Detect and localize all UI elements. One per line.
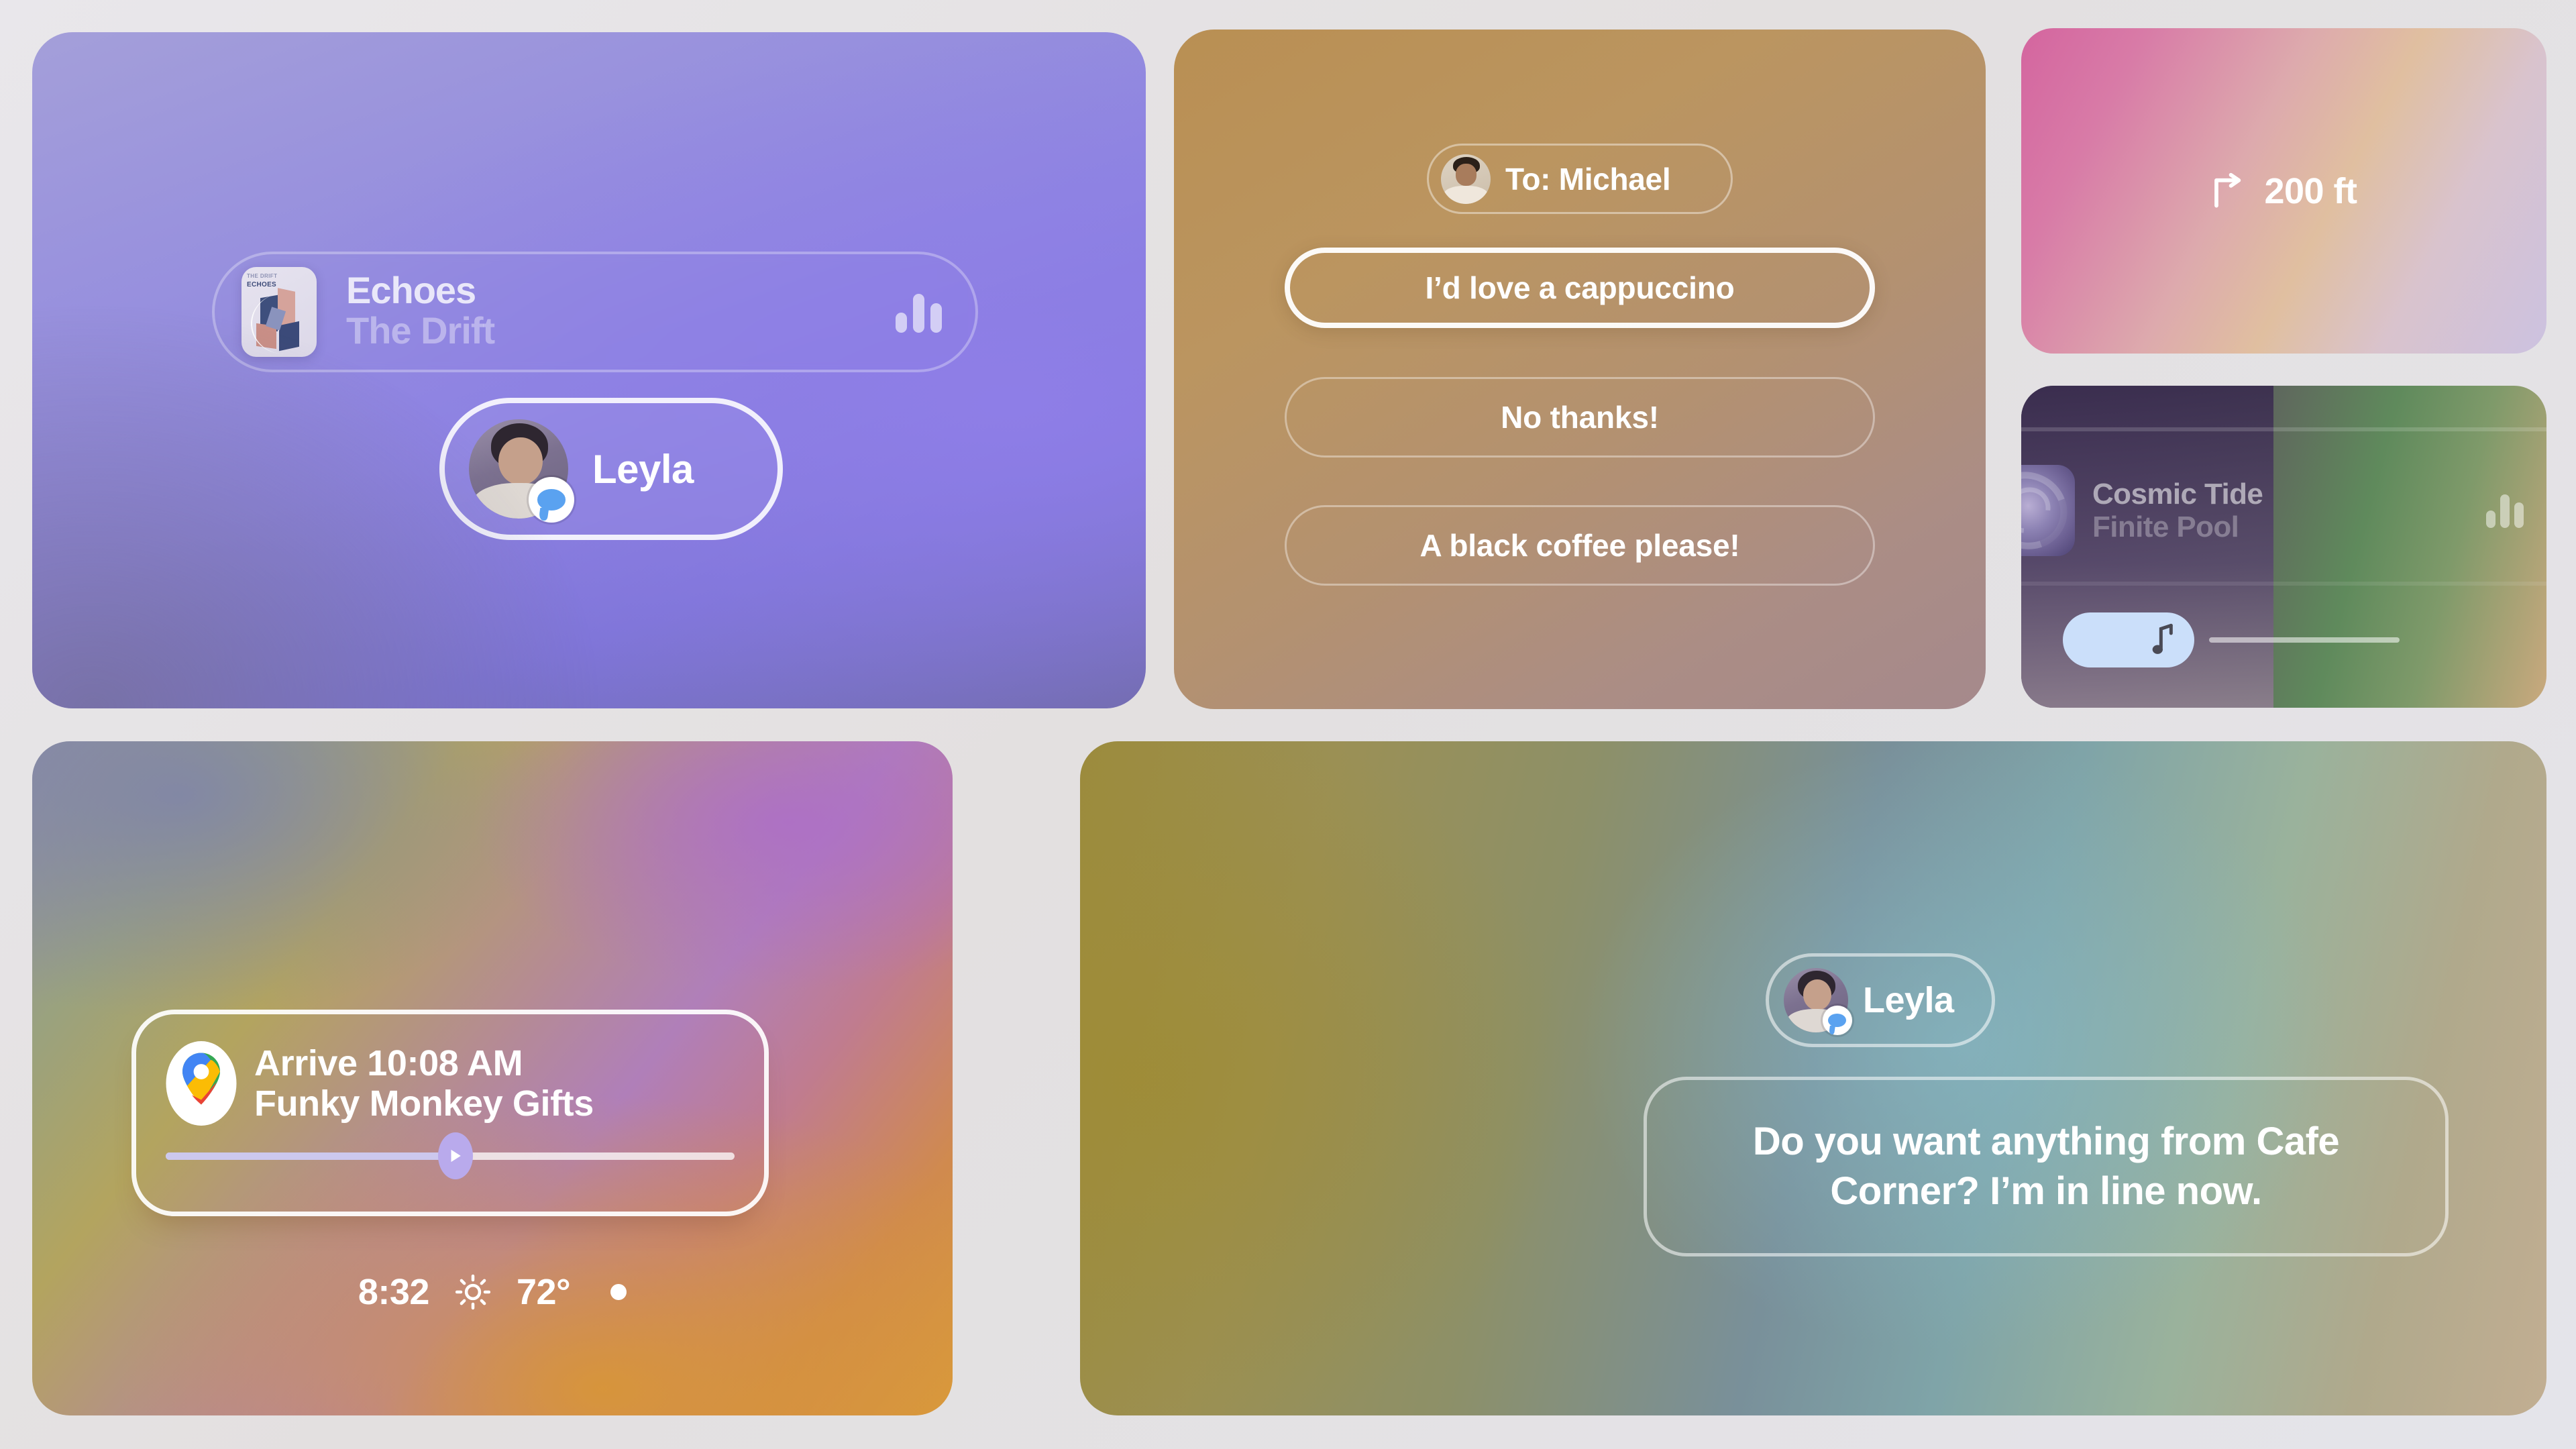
reply-option-0[interactable]: I’d love a cappuccino (1285, 248, 1875, 328)
reply-option-label: A black coffee please! (1419, 527, 1739, 563)
contact-name: Leyla (592, 446, 694, 492)
track-artist: Finite Pool (2092, 511, 2486, 543)
track-meta: Cosmic Tide Finite Pool (2092, 478, 2486, 544)
avatar (1784, 968, 1848, 1032)
cosmic-tide-music-card[interactable]: Cosmic Tide Finite Pool (2021, 386, 2546, 708)
navigation-arrive-card[interactable]: Arrive 10:08 AM Funky Monkey Gifts 8:32 (32, 741, 953, 1415)
arrive-panel[interactable]: Arrive 10:08 AM Funky Monkey Gifts (131, 1010, 769, 1216)
widget-dashboard: THE DRIFT ECHOES Echoes The Drift Leyla (0, 0, 2576, 1449)
album-art (2021, 465, 2075, 556)
music-note-icon (2149, 623, 2176, 657)
playback-progress-track[interactable] (2209, 637, 2400, 643)
track-title: Cosmic Tide (2092, 478, 2486, 511)
now-playing-card[interactable]: THE DRIFT ECHOES Echoes The Drift Leyla (32, 32, 1146, 708)
status-row: 8:32 72° (32, 1271, 953, 1313)
arrive-eta: Arrive 10:08 AM (254, 1043, 594, 1083)
distance-text: 200 ft (2264, 170, 2357, 212)
reply-option-1[interactable]: No thanks! (1285, 377, 1875, 458)
music-note-pill[interactable] (2063, 612, 2194, 667)
navigation-arrow-icon (447, 1147, 464, 1165)
recipient-chip[interactable]: To: Michael (1427, 144, 1733, 214)
track-title: Echoes (346, 272, 896, 309)
suggested-replies-card[interactable]: To: Michael I’d love a cappuccino No tha… (1174, 30, 1986, 709)
arrive-destination: Funky Monkey Gifts (254, 1083, 594, 1124)
clock-time: 8:32 (358, 1271, 429, 1313)
track-artist: The Drift (346, 309, 896, 352)
message-body: Do you want anything from Cafe Corner? I… (1679, 1117, 2413, 1216)
equalizer-icon (2486, 493, 2524, 528)
message-bubble-badge-icon (529, 477, 574, 523)
now-playing-pill[interactable]: THE DRIFT ECHOES Echoes The Drift (212, 252, 978, 372)
reply-option-2[interactable]: A black coffee please! (1285, 505, 1875, 586)
route-progress[interactable] (166, 1146, 735, 1166)
reply-option-label: I’d love a cappuccino (1425, 270, 1734, 306)
album-art-label-bottom: ECHOES (247, 281, 276, 288)
route-progress-knob[interactable] (438, 1132, 473, 1179)
turn-right-icon (2210, 172, 2247, 210)
google-maps-pin-icon (166, 1041, 237, 1126)
incoming-message-card[interactable]: Leyla Do you want anything from Cafe Cor… (1080, 741, 2546, 1415)
message-bubble: Do you want anything from Cafe Corner? I… (1644, 1077, 2449, 1256)
message-bubble-badge-icon (1823, 1006, 1852, 1035)
recipient-label: To: Michael (1505, 161, 1670, 197)
sender-chip[interactable]: Leyla (1766, 953, 1995, 1047)
avatar (1441, 154, 1491, 204)
contact-chip-leyla[interactable]: Leyla (439, 398, 783, 540)
album-art: THE DRIFT ECHOES (241, 267, 317, 357)
track-meta: Echoes The Drift (346, 272, 896, 352)
album-art-label-top: THE DRIFT (247, 273, 277, 279)
sun-icon (455, 1274, 491, 1310)
temperature: 72° (517, 1271, 570, 1313)
equalizer-icon (896, 291, 942, 333)
sender-name: Leyla (1863, 979, 1954, 1021)
status-dot-icon (610, 1284, 627, 1300)
avatar (469, 419, 568, 519)
navigation-distance-card[interactable]: 200 ft (2021, 28, 2546, 354)
reply-option-label: No thanks! (1501, 399, 1659, 435)
